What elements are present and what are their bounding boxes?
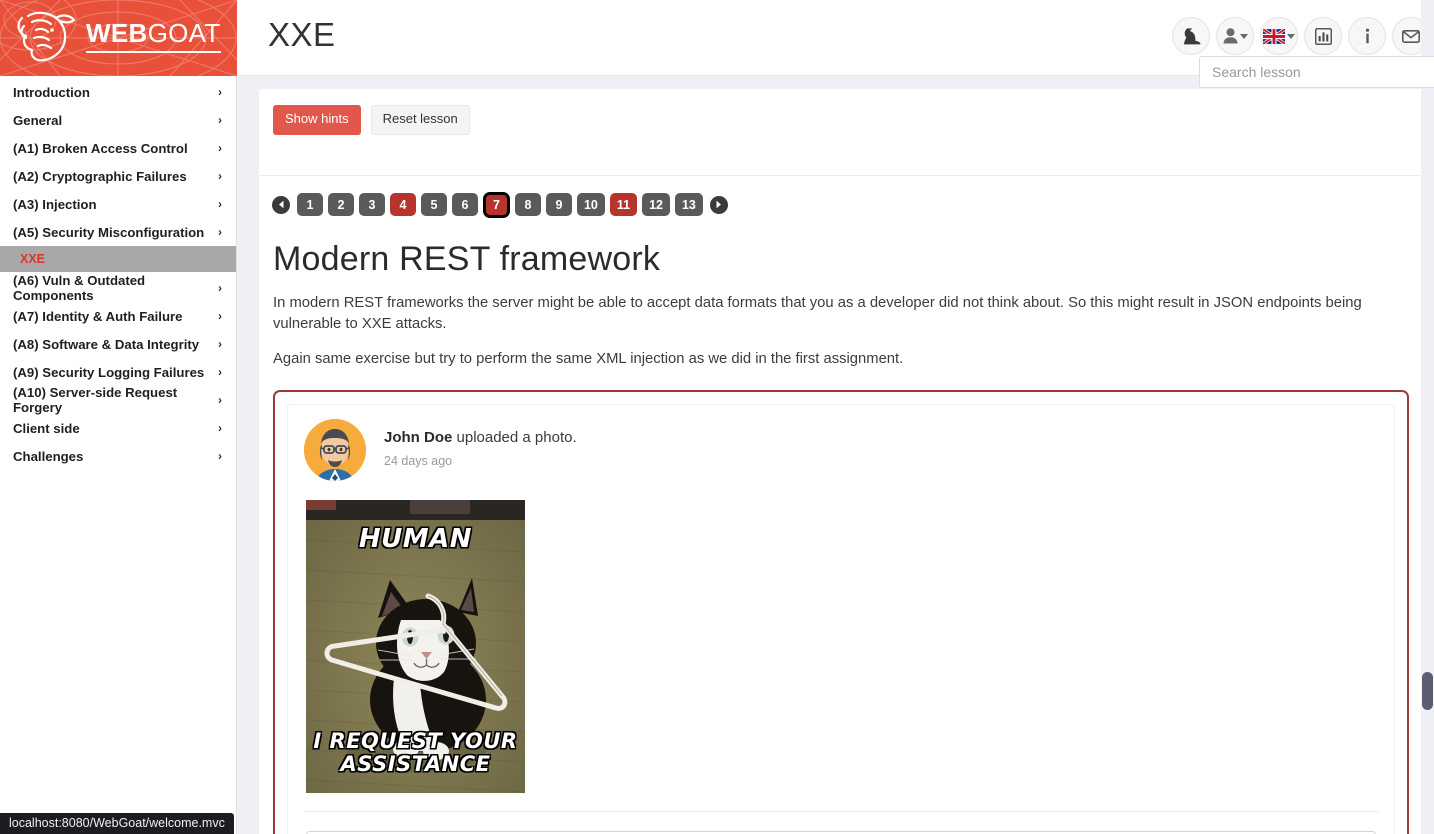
goat-logo-icon (1181, 27, 1202, 46)
sidebar-item-security-logging-failures[interactable]: (A9) Security Logging Failures › (0, 358, 236, 386)
sidebar-item-security-misconfiguration[interactable]: (A5) Security Misconfiguration › (0, 218, 236, 246)
pagination-page-10[interactable]: 10 (577, 193, 605, 216)
sidebar-item-label: (A5) Security Misconfiguration (13, 225, 204, 240)
chevron-right-icon: › (218, 365, 222, 379)
chevron-right-icon: › (218, 393, 222, 407)
chevron-right-icon: › (218, 337, 222, 351)
post-author-line: John Doe uploaded a photo. (384, 429, 577, 446)
pagination-page-5[interactable]: 5 (421, 193, 447, 216)
language-menu-button[interactable] (1260, 17, 1298, 55)
sidebar-item-label: Challenges (13, 449, 83, 464)
sidebar-item-general[interactable]: General › (0, 106, 236, 134)
pagination-page-8[interactable]: 8 (515, 193, 541, 216)
sidebar-item-label: Client side (13, 421, 80, 436)
uk-flag-icon (1263, 29, 1285, 44)
sidebar-item-label: (A6) Vuln & Outdated Components (13, 273, 218, 303)
pagination-page-9[interactable]: 9 (546, 193, 572, 216)
lesson-content-panel: Show hints Reset lesson 1 2 3 4 5 6 7 8 … (259, 89, 1423, 834)
post-meta: John Doe uploaded a photo. 24 days ago (384, 419, 577, 468)
pagination-page-4[interactable]: 4 (390, 193, 416, 216)
assignment-post-card: John Doe uploaded a photo. 24 days ago (273, 390, 1409, 834)
chevron-right-icon: › (218, 85, 222, 99)
pagination-page-13[interactable]: 13 (675, 193, 703, 216)
status-bar-url: localhost:8080/WebGoat/welcome.mvc (0, 813, 234, 834)
chevron-down-icon (1240, 34, 1248, 39)
brand-goat-text: GOAT (148, 18, 221, 53)
sidebar-item-label: (A10) Server-side Request Forgery (13, 385, 218, 415)
chevron-down-icon (1287, 34, 1295, 39)
meme-bottom-text: I REQUEST YOUR ASSISTANCE (306, 730, 525, 777)
chevron-right-icon: › (218, 197, 222, 211)
sidebar-item-xxe[interactable]: XXE (0, 246, 236, 272)
post-action-text: uploaded a photo. (452, 429, 576, 446)
sidebar-item-introduction[interactable]: Introduction › (0, 78, 236, 106)
hints-panel (259, 146, 1423, 176)
sidebar-item-label: General (13, 113, 62, 128)
sidebar-item-server-side-request-forgery[interactable]: (A10) Server-side Request Forgery › (0, 386, 236, 414)
user-avatar-image (304, 419, 366, 481)
chevron-right-icon: › (218, 113, 222, 127)
pagination-prev-button[interactable] (272, 196, 290, 214)
search-lesson-field[interactable]: Search lesson (1199, 56, 1434, 88)
lesson-pagination: 1 2 3 4 5 6 7 8 9 10 11 12 13 (259, 176, 1423, 218)
reset-lesson-button[interactable]: Reset lesson (371, 105, 470, 135)
webgoat-page: WEBGOAT Introduction › General › (A1) Br… (0, 0, 1434, 834)
search-placeholder-text: Search lesson (1212, 64, 1301, 80)
sidebar-item-label: (A3) Injection (13, 197, 97, 212)
pagination-page-6[interactable]: 6 (452, 193, 478, 216)
pagination-page-2[interactable]: 2 (328, 193, 354, 216)
chevron-right-icon: › (218, 309, 222, 323)
pagination-page-7-current[interactable]: 7 (483, 192, 510, 218)
about-button[interactable] (1348, 17, 1386, 55)
lesson-title: Modern REST framework (259, 218, 1423, 279)
sidebar-item-broken-access-control[interactable]: (A1) Broken Access Control › (0, 134, 236, 162)
sidebar-item-identity-auth-failure[interactable]: (A7) Identity & Auth Failure › (0, 302, 236, 330)
sidebar-item-label: (A1) Broken Access Control (13, 141, 188, 156)
lesson-action-buttons: Show hints Reset lesson (259, 89, 1423, 135)
header-toolbar (1172, 17, 1430, 55)
post-inner-panel: John Doe uploaded a photo. 24 days ago (287, 404, 1395, 834)
pagination-page-3[interactable]: 3 (359, 193, 385, 216)
chevron-right-icon: › (218, 449, 222, 463)
statistics-button[interactable] (1304, 17, 1342, 55)
user-menu-button[interactable] (1216, 17, 1254, 55)
brand-title: WEBGOAT (86, 20, 221, 46)
info-icon (1364, 28, 1371, 45)
show-hints-button[interactable]: Show hints (273, 105, 361, 135)
chevron-right-icon: › (218, 225, 222, 239)
sidebar-item-cryptographic-failures[interactable]: (A2) Cryptographic Failures › (0, 162, 236, 190)
post-timestamp: 24 days ago (384, 454, 577, 468)
avatar (304, 419, 366, 481)
arrow-right-icon (714, 200, 723, 209)
page-title: XXE (268, 16, 336, 54)
sidebar-item-vuln-outdated-components[interactable]: (A6) Vuln & Outdated Components › (0, 274, 236, 302)
brand-web-text: WEB (86, 18, 148, 53)
sidebar-item-challenges[interactable]: Challenges › (0, 442, 236, 470)
pagination-page-11[interactable]: 11 (610, 193, 637, 216)
pagination-page-12[interactable]: 12 (642, 193, 670, 216)
sidebar-item-client-side[interactable]: Client side › (0, 414, 236, 442)
lesson-paragraph-2: Again same exercise but try to perform t… (259, 335, 1399, 370)
arrow-left-icon (277, 200, 286, 209)
chevron-right-icon: › (218, 281, 222, 295)
goat-head-icon (12, 6, 78, 70)
sidebar-item-label: Introduction (13, 85, 90, 100)
sidebar-item-label: (A8) Software & Data Integrity (13, 337, 199, 352)
brand-header[interactable]: WEBGOAT (0, 0, 237, 76)
chevron-right-icon: › (218, 169, 222, 183)
chevron-right-icon: › (218, 141, 222, 155)
sidebar-nav: Introduction › General › (A1) Broken Acc… (0, 76, 236, 470)
sidebar-item-software-data-integrity[interactable]: (A8) Software & Data Integrity › (0, 330, 236, 358)
sidebar-item-label: (A7) Identity & Auth Failure (13, 309, 183, 324)
sidebar-item-injection[interactable]: (A3) Injection › (0, 190, 236, 218)
pagination-next-button[interactable] (710, 196, 728, 214)
post-header: John Doe uploaded a photo. 24 days ago (304, 419, 1378, 481)
sidebar-item-label: (A2) Cryptographic Failures (13, 169, 187, 184)
chevron-right-icon: › (218, 421, 222, 435)
goat-logo-icon-button[interactable] (1172, 17, 1210, 55)
sidebar-subitem-label: XXE (20, 252, 45, 266)
user-icon (1223, 28, 1238, 44)
envelope-icon (1402, 30, 1420, 43)
cat-hanger-meme-image: HUMAN I REQUEST YOUR ASSISTANCE (306, 500, 525, 793)
sidebar-item-label: (A9) Security Logging Failures (13, 365, 204, 380)
bar-chart-icon (1315, 28, 1332, 45)
lesson-paragraph-1: In modern REST frameworks the server mig… (259, 279, 1399, 335)
page-scrollbar-thumb[interactable] (1422, 672, 1433, 710)
sidebar: WEBGOAT Introduction › General › (A1) Br… (0, 0, 237, 834)
comment-divider (304, 811, 1378, 812)
meme-top-text: HUMAN (306, 524, 525, 554)
post-author-name: John Doe (384, 429, 452, 446)
pagination-page-1[interactable]: 1 (297, 193, 323, 216)
